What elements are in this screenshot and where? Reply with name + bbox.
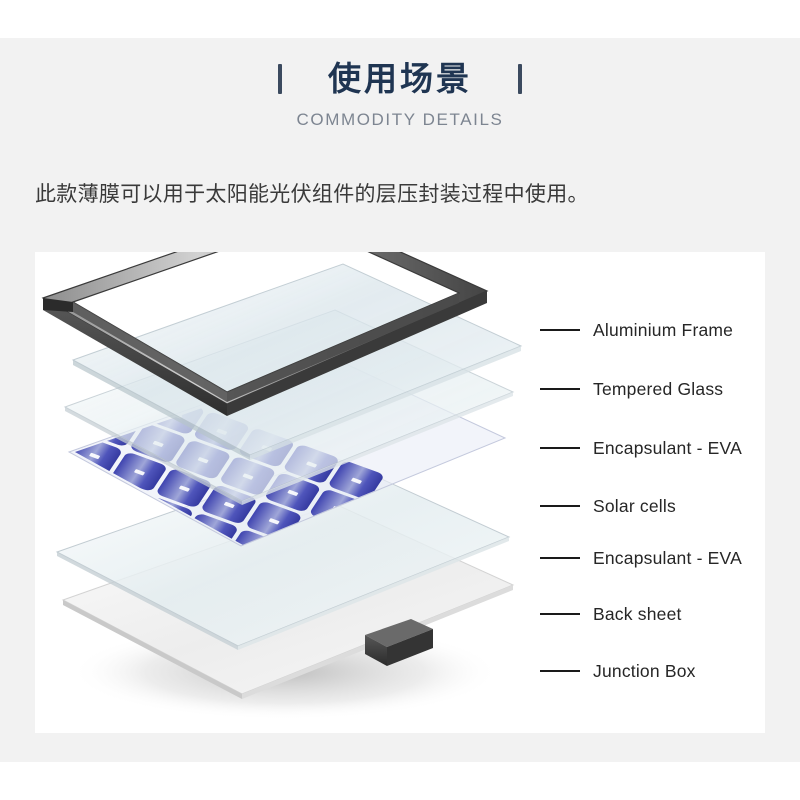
page-root: 使用场景 COMMODITY DETAILS 此款薄膜可以用于太阳能光伏组件的层…: [0, 0, 800, 800]
page-header: 使用场景 COMMODITY DETAILS: [0, 58, 800, 130]
description-text: 此款薄膜可以用于太阳能光伏组件的层压封装过程中使用。: [35, 180, 765, 210]
exploded-layer-illustration: [35, 252, 765, 733]
title-row: 使用场景: [0, 58, 800, 100]
title-right-tick-icon: [518, 64, 522, 94]
page-title: 使用场景: [328, 58, 472, 100]
diagram-panel: Aluminium Frame Tempered Glass Encapsula…: [35, 252, 765, 733]
page-subtitle: COMMODITY DETAILS: [0, 110, 800, 130]
title-left-tick-icon: [278, 64, 282, 94]
